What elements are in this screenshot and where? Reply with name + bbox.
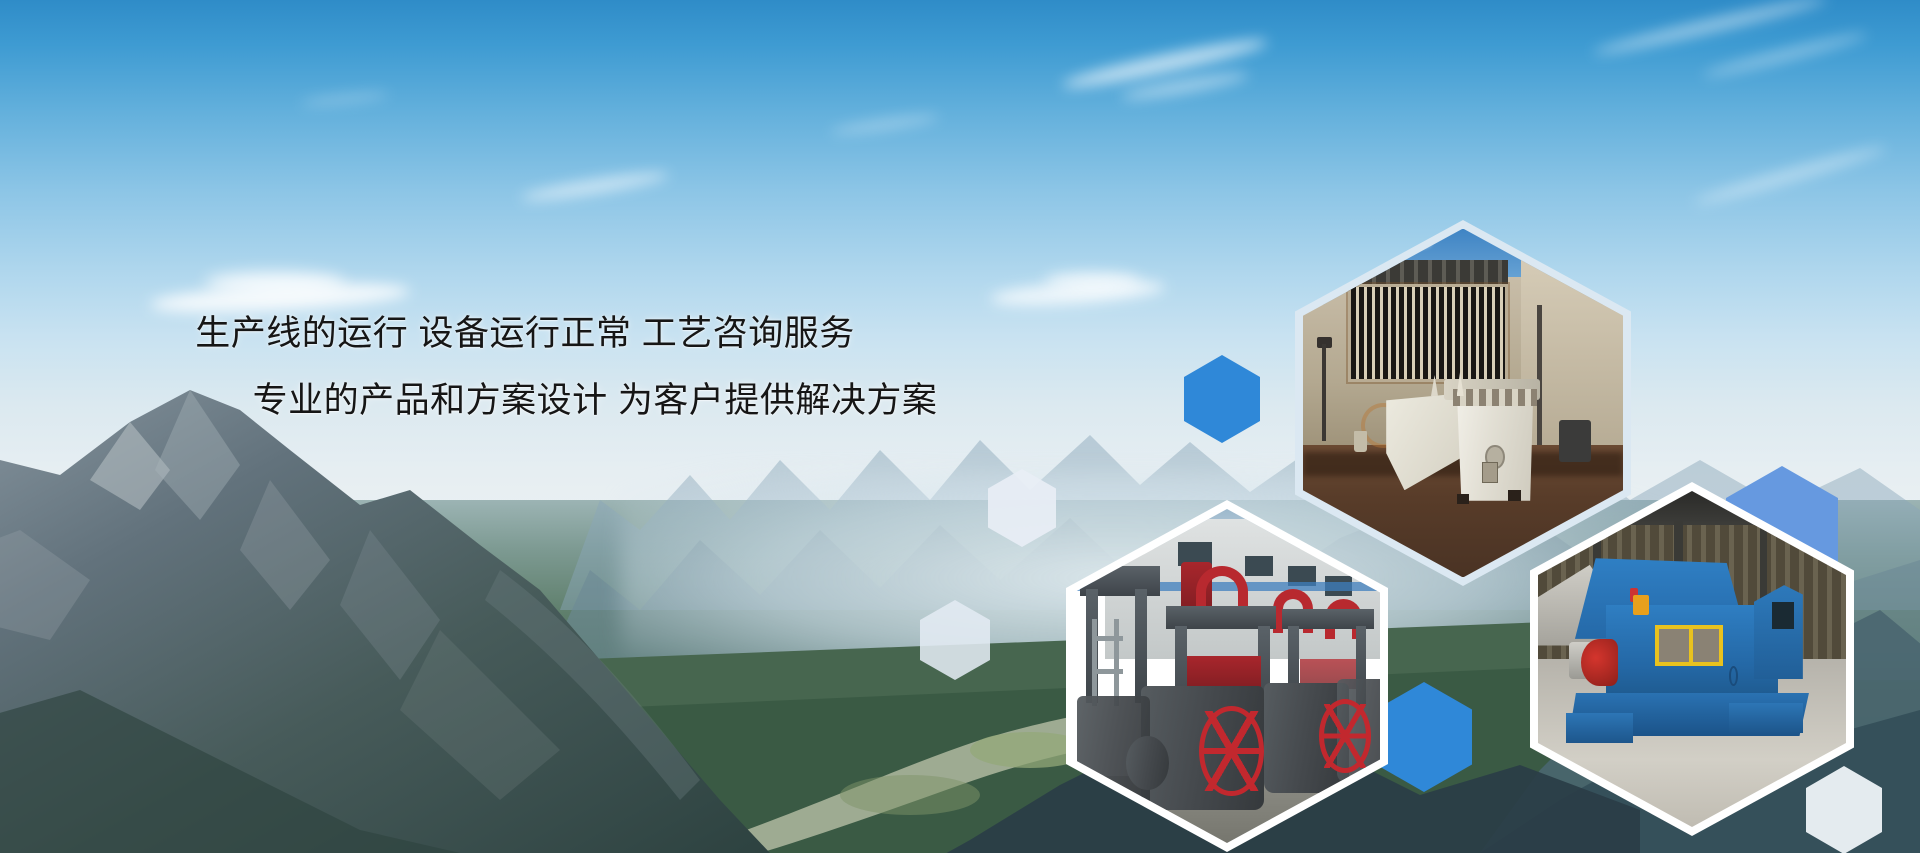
hex-photo-middle-image xyxy=(1074,509,1380,843)
cloud-icon xyxy=(1045,272,1140,290)
hex-photo-right-image xyxy=(1538,491,1846,827)
headline-group: 生产线的运行 设备运行正常 工艺咨询服务 专业的产品和方案设计 为客户提供解决方… xyxy=(0,316,1180,418)
headline-line-2: 专业的产品和方案设计 为客户提供解决方案 xyxy=(10,383,1180,418)
cloud-icon xyxy=(205,272,345,294)
headline-line-1: 生产线的运行 设备运行正常 工艺咨询服务 xyxy=(0,316,1180,351)
banner-stage: 生产线的运行 设备运行正常 工艺咨询服务 专业的产品和方案设计 为客户提供解决方… xyxy=(0,0,1920,853)
